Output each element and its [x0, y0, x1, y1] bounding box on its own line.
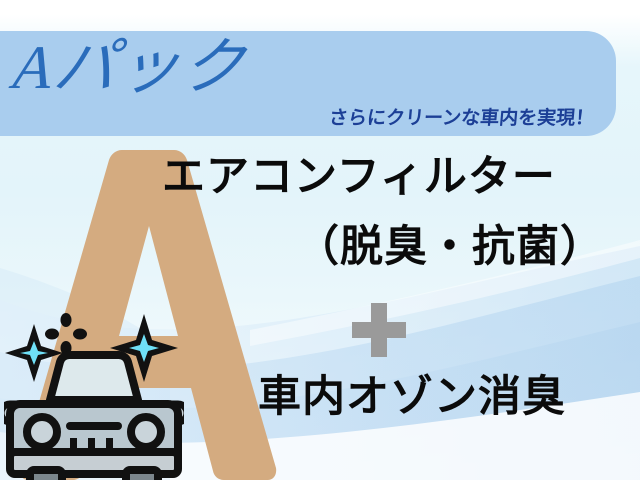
service-line-air-filter: エアコンフィルター [162, 156, 556, 199]
plus-icon [352, 303, 406, 357]
sparkle-dots-icon [45, 313, 87, 355]
service-line-effect: （脱臭・抗菌） [296, 226, 604, 269]
banner-title: Aパック [11, 37, 249, 99]
car-body-group [4, 355, 184, 480]
promo-poster: Aパック さらにクリーンな車内を実現！ エアコンフィルター （脱臭・抗菌） 車内… [0, 0, 640, 480]
service-line-ozone: 車内オゾン消臭 [258, 376, 566, 419]
banner-subtitle: さらにクリーンな車内を実現！ [328, 109, 595, 128]
car-front-icon [4, 300, 184, 480]
header-banner: Aパック さらにクリーンな車内を実現！ [0, 31, 616, 136]
